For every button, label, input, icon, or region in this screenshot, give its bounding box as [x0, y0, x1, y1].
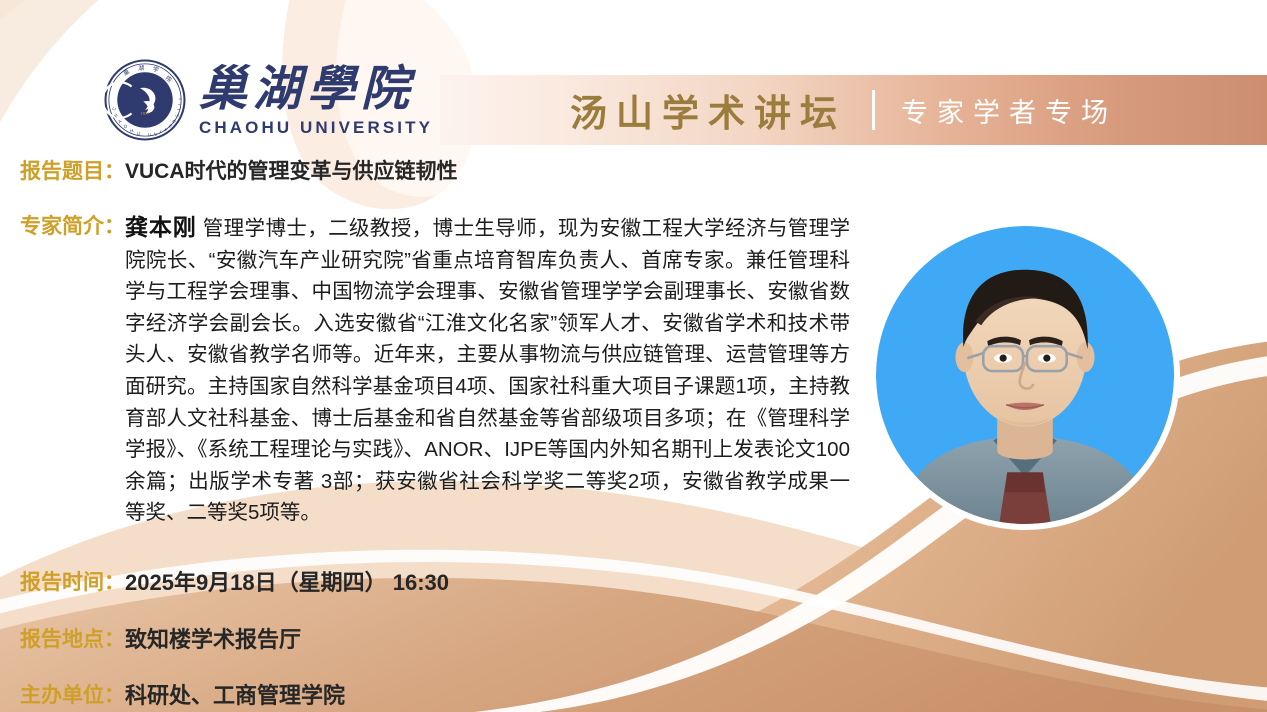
lecture-host-label: 主办单位： [20, 681, 125, 711]
lecture-host-value: 科研处、工商管理学院 [125, 681, 345, 711]
speaker-bio-row: 专家简介： 龚本刚 管理学博士，二级教授，博士生导师，现为安徽工程大学经济与管理… [20, 212, 880, 529]
lecture-place-value: 致知楼学术报告厅 [125, 625, 301, 655]
speaker-bio-paragraph: 管理学博士，二级教授，博士生导师，现为安徽工程大学经济与管理学院院长、“安徽汽车… [125, 217, 850, 524]
speaker-name: 龚本刚 [125, 214, 197, 240]
lecture-time-row: 报告时间： 2025年9月18日（星期四） 16:30 [20, 568, 449, 598]
lecture-place-label: 报告地点： [20, 625, 125, 655]
lecture-time-value: 2025年9月18日（星期四） 16:30 [125, 568, 449, 598]
lecture-title-row: 报告题目： VUCA时代的管理变革与供应链韧性 [20, 157, 458, 187]
lecture-time-label: 报告时间： [20, 568, 125, 598]
speaker-portrait-photo-icon [876, 226, 1174, 524]
lecture-title-label: 报告题目： [20, 157, 125, 187]
lecture-host-row: 主办单位： 科研处、工商管理学院 [20, 681, 345, 711]
lecture-title-value: VUCA时代的管理变革与供应链韧性 [125, 157, 458, 187]
speaker-bio-text: 龚本刚 管理学博士，二级教授，博士生导师，现为安徽工程大学经济与管理学院院长、“… [125, 212, 850, 529]
poster-content: 报告题目： VUCA时代的管理变革与供应链韧性 专家简介： 龚本刚 管理学博士，… [0, 0, 1267, 712]
speaker-bio-label: 专家简介： [20, 212, 125, 242]
lecture-place-row: 报告地点： 致知楼学术报告厅 [20, 625, 301, 655]
poster-root: 1977 巢 湖 学 院 C H A O H U U N I V [0, 0, 1267, 712]
speaker-portrait [876, 226, 1174, 524]
